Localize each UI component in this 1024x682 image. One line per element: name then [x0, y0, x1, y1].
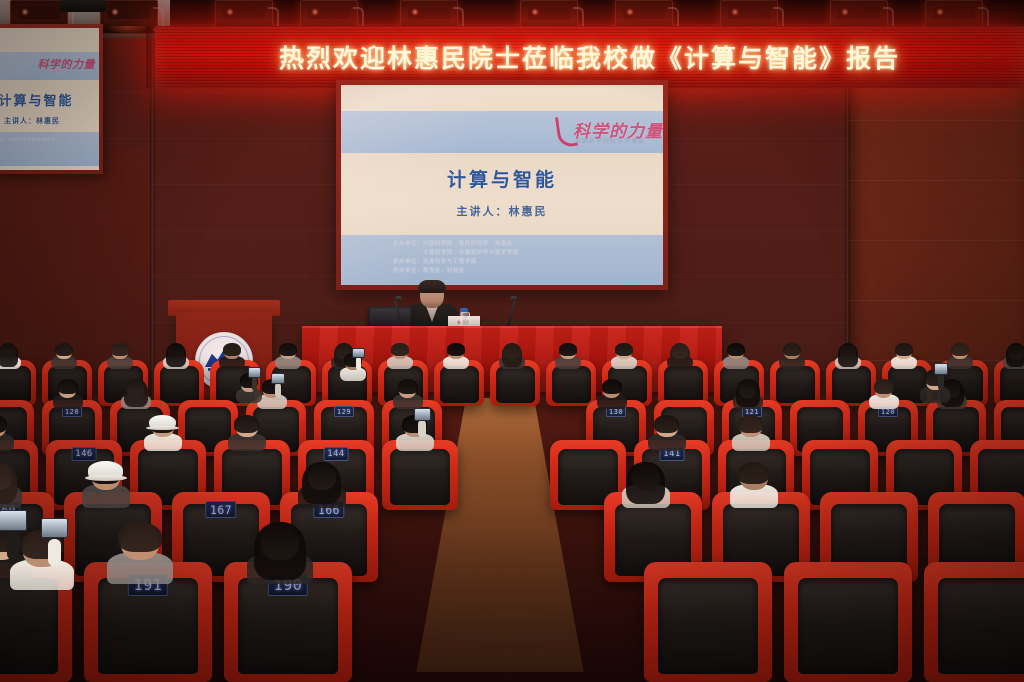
slide-credit-line: 主办单位：中国科学院 软件研究所 林惠民: [393, 240, 633, 249]
light-lens: [108, 6, 150, 19]
left-side-screen: 科学的力量 计算与智能 主讲人：林惠民 主办单位：中国科学院软件研究所: [0, 24, 103, 174]
audience-hair: [398, 379, 418, 393]
speaker-hair: [418, 280, 446, 293]
audience-arm: [938, 374, 944, 390]
audience-hair: [111, 343, 128, 355]
audience-member: [340, 352, 366, 380]
audience-member: [723, 342, 749, 368]
light-lens: [18, 6, 60, 19]
audience-long-hair: [302, 462, 340, 504]
audience-long-hair: [838, 343, 859, 367]
audience-member: [247, 520, 313, 582]
audience-hair: [951, 343, 968, 355]
audience-member: [779, 342, 805, 368]
audience-hair: [783, 343, 800, 355]
seat-back-cushion: [776, 366, 815, 403]
side-slide-speaker: 主讲人：林惠民: [0, 116, 92, 126]
audience-member: [443, 342, 469, 368]
audience-hair: [58, 379, 78, 393]
audience-long-hair: [670, 343, 691, 367]
audience-arm: [275, 383, 281, 397]
light-lens: [623, 6, 665, 19]
seat-number-plate: 144: [324, 447, 349, 461]
seat-back-cushion: [658, 578, 758, 674]
seat-back-cushion: [1000, 366, 1024, 403]
audience-member: [835, 342, 861, 368]
audience-member: [0, 414, 14, 450]
audience-member: [228, 414, 266, 450]
smartphone[interactable]: [352, 348, 364, 358]
side-slide-logo: 科学的力量: [38, 56, 96, 72]
audience-member: [51, 342, 77, 368]
audience-member: [611, 342, 637, 368]
audience-member: [396, 414, 434, 450]
audience-member: [732, 414, 770, 450]
audience-arm: [418, 420, 426, 437]
audience-member: [0, 342, 21, 368]
audience-long-hair: [1006, 343, 1024, 367]
audience-hair: [118, 522, 162, 552]
slide-credit-line: 协办单位：教务处／科技处: [393, 267, 633, 276]
audience-hair: [223, 343, 240, 355]
auditorium-scene: 热烈欢迎林惠民院士莅临我校做《计算与智能》报告 科学的力量 计算与智能 主讲人：…: [0, 0, 1024, 682]
audience-long-hair: [166, 343, 187, 367]
banner-text: 热烈欢迎林惠民院士莅临我校做《计算与智能》报告: [155, 39, 1024, 75]
audience-hair: [559, 343, 576, 355]
cap-brim: [85, 475, 127, 481]
audience-member: [597, 378, 627, 408]
audience-hair: [727, 343, 744, 355]
slide-logo-subtext: 中国科学院科学传播局: [575, 136, 645, 145]
audience-member: [163, 342, 189, 368]
slide-logo: 科学的力量 中国科学院科学传播局: [557, 115, 649, 149]
audience-member: [121, 378, 151, 408]
slide-title: 计算与智能: [341, 165, 663, 192]
audience-long-hair: [254, 522, 307, 579]
smartphone[interactable]: [414, 408, 431, 421]
smartphone[interactable]: [41, 518, 69, 538]
audience-member: [236, 372, 262, 402]
audience-member: [53, 378, 83, 408]
audience-hair: [738, 462, 770, 484]
audience-long-hair: [124, 379, 148, 407]
audience-member: [1003, 342, 1024, 368]
auditorium-seat[interactable]: [784, 562, 912, 682]
slide-speaker-line: 主讲人：林惠民: [341, 203, 663, 219]
audience-hair: [874, 379, 894, 393]
audience-member: [499, 342, 525, 368]
welcome-banner: 热烈欢迎林惠民院士莅临我校做《计算与智能》报告: [155, 26, 1024, 88]
audience-member: [144, 414, 182, 450]
microphone-head-icon: [510, 296, 517, 301]
audience-arm: [356, 357, 361, 370]
light-lens: [528, 6, 570, 19]
laptop: [368, 307, 413, 328]
light-lens: [223, 6, 265, 19]
light-lens: [838, 6, 880, 19]
audience-arm: [252, 377, 257, 391]
audience-shoulders: [0, 433, 14, 452]
slide-credits: 主办单位：中国科学院 软件研究所 林惠民 计算机学院 计算机科学与技术学院承办单…: [393, 240, 633, 276]
side-slide-credits: 主办单位：中国科学院软件研究所: [0, 136, 99, 143]
smartphone[interactable]: [934, 363, 948, 375]
audience-arm: [48, 539, 61, 567]
seat-back-cushion: [496, 366, 535, 403]
audience-member: [393, 378, 423, 408]
auditorium-seat[interactable]: [924, 562, 1024, 682]
audience-member: [667, 342, 693, 368]
seat-back-cushion: [664, 366, 703, 403]
audience-member: [107, 342, 133, 368]
audience-long-hair: [502, 343, 523, 367]
seat-number-plate: 129: [334, 406, 354, 418]
audience-member: [730, 460, 778, 506]
audience-member: [622, 460, 670, 506]
audience-member: [0, 460, 22, 506]
side-slide-title: 计算与智能: [0, 90, 96, 109]
laptop-screen: [370, 308, 411, 325]
smartphone[interactable]: [271, 373, 285, 384]
audience-hair: [0, 415, 7, 432]
audience-hair: [602, 379, 622, 393]
slide-credit-line: 计算机学院 计算机科学与技术学院: [393, 249, 633, 258]
audience-long-hair: [736, 379, 760, 407]
audience-member: [733, 378, 763, 408]
audience-hair: [55, 343, 72, 355]
audience-hair: [447, 343, 464, 355]
audience-long-hair: [626, 462, 664, 504]
seat-back-cushion: [798, 578, 898, 674]
audience-member: [648, 414, 686, 450]
audience-member: [869, 378, 899, 408]
audience-member: [298, 460, 346, 506]
audience-member: [387, 342, 413, 368]
audience-member: [891, 342, 917, 368]
light-lens: [408, 6, 450, 19]
cap-brim: [146, 426, 179, 431]
seat-back-cushion: [832, 366, 871, 403]
audience-hair: [895, 343, 912, 355]
audience-member: [82, 460, 130, 506]
audience-member: [920, 368, 950, 402]
microphone-head-icon: [395, 296, 402, 301]
seat-number-plate: 167: [205, 501, 236, 518]
audience-member: [555, 342, 581, 368]
auditorium-seat[interactable]: [644, 562, 772, 682]
light-lens: [308, 6, 350, 19]
seat-number-plate: 146: [72, 447, 97, 461]
audience-member: [947, 342, 973, 368]
audience-member: [10, 528, 74, 588]
audience-member: [219, 342, 245, 368]
audience-hair: [738, 415, 763, 432]
smartphone[interactable]: [248, 367, 260, 378]
audience-hair: [615, 343, 632, 355]
seat-back-cushion: [0, 578, 58, 674]
seat-back-cushion: [160, 366, 199, 403]
main-projection-screen: 科学的力量 中国科学院科学传播局 计算与智能 主讲人：林惠民 主办单位：中国科学…: [336, 80, 668, 290]
seat-back-cushion: [938, 578, 1024, 674]
audience-hair: [234, 415, 259, 432]
audience-hair: [279, 343, 296, 355]
audience-long-hair: [0, 343, 18, 367]
audience-hair: [391, 343, 408, 355]
audience-hair: [654, 415, 679, 432]
seat-back-cushion: [0, 366, 31, 403]
audience-member: [275, 342, 301, 368]
seat-back-cushion: [440, 366, 479, 403]
seat-back-cushion: [390, 449, 449, 505]
side-screen-mount: [60, 0, 106, 12]
seat-back-cushion: [552, 366, 591, 403]
light-lens: [933, 6, 975, 19]
light-lens: [728, 6, 770, 19]
slide-credit-line: 承办单位：信息科学与工程学院: [393, 258, 633, 267]
audience-member: [107, 520, 173, 582]
audience-long-hair: [0, 462, 17, 504]
